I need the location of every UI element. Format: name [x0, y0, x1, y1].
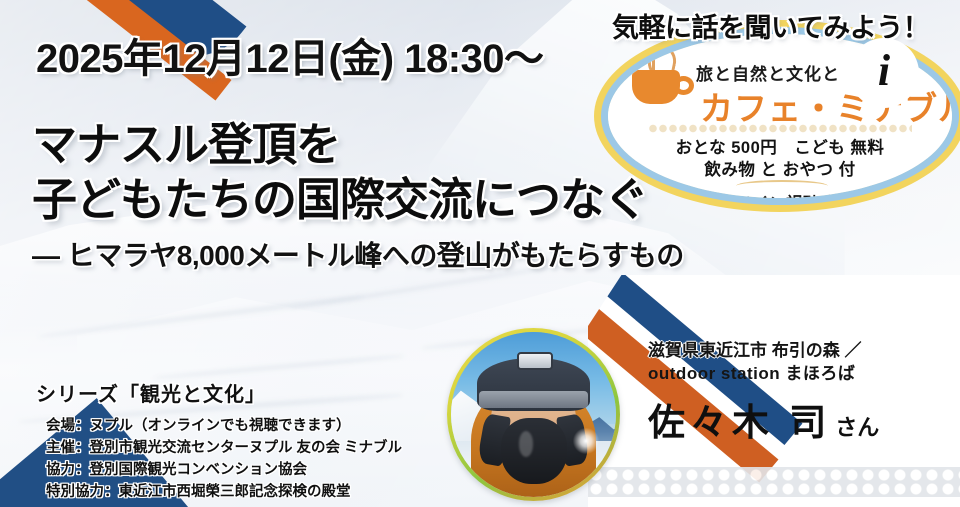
page-title-line-2: 子どもたちの国際交流につなぐ — [32, 173, 684, 228]
panel-lace-pattern — [588, 467, 960, 497]
title-block: マナスル登頂を 子どもたちの国際交流につなぐ ― ヒマラヤ8,000メートル峰へ… — [32, 118, 684, 274]
page-title-line-1: マナスル登頂を — [32, 118, 684, 173]
avatar — [447, 328, 620, 501]
badge-price-line-2: 飲み物 と おやつ 付 — [608, 156, 952, 180]
portrait-sun-glare — [573, 428, 599, 454]
info-line-special-cooperation: 特別協力：東近江市西堀榮三郎記念探検の殿堂 — [46, 481, 402, 503]
speaker-name: 佐々木 司 — [648, 402, 831, 443]
info-icon[interactable]: i — [849, 38, 919, 108]
info-icon-glyph: i — [878, 49, 890, 93]
info-line-organizer: 主催：登別市観光交流センターヌプル 友の会 ミナブル — [46, 437, 402, 459]
oxygen-mask-icon — [501, 418, 567, 484]
badge-online-line: オンライン視聴 無料 — [608, 190, 952, 198]
series-title: シリーズ「観光と文化」 — [36, 378, 402, 407]
speaker-affiliation-line-2: outdoor station まほろば — [648, 363, 954, 385]
event-poster: 2025年12月12日(金) 18:30〜 マナスル登頂を 子どもたちの国際交流… — [0, 0, 960, 507]
series-info-list: 会場：ヌプル（オンラインでも視聴できます） 主催：登別市観光交流センターヌプル … — [36, 415, 402, 503]
panel-lace-base — [588, 497, 960, 507]
info-line-venue: 会場：ヌプル（オンラインでも視聴できます） — [46, 415, 402, 437]
series-info-block: シリーズ「観光と文化」 会場：ヌプル（オンラインでも視聴できます） 主催：登別市… — [36, 378, 402, 503]
speaker-portrait-image — [451, 332, 616, 497]
speaker-name-suffix: さん — [835, 415, 879, 440]
page-subtitle: ― ヒマラヤ8,000メートル峰への登山がもたらすもの — [32, 234, 684, 274]
badge-price-line-1: おとな 500円 こども 無料 — [608, 134, 952, 158]
coffee-cup-icon — [632, 60, 696, 106]
headlamp-icon — [517, 352, 553, 370]
speaker-affiliation-line-1: 滋賀県東近江市 布引の森 ／ — [648, 340, 954, 362]
speaker-info: 滋賀県東近江市 布引の森 ／ outdoor station まほろば 佐々木 … — [648, 340, 954, 446]
portrait-cap-band — [479, 391, 588, 408]
speaker-name-row: 佐々木 司さん — [648, 392, 954, 446]
cup-body — [632, 70, 680, 104]
badge-divider — [648, 124, 912, 133]
info-line-cooperation: 協力：登別国際観光コンベンション協会 — [46, 459, 402, 481]
event-date: 2025年12月12日(金) 18:30〜 — [36, 26, 544, 84]
